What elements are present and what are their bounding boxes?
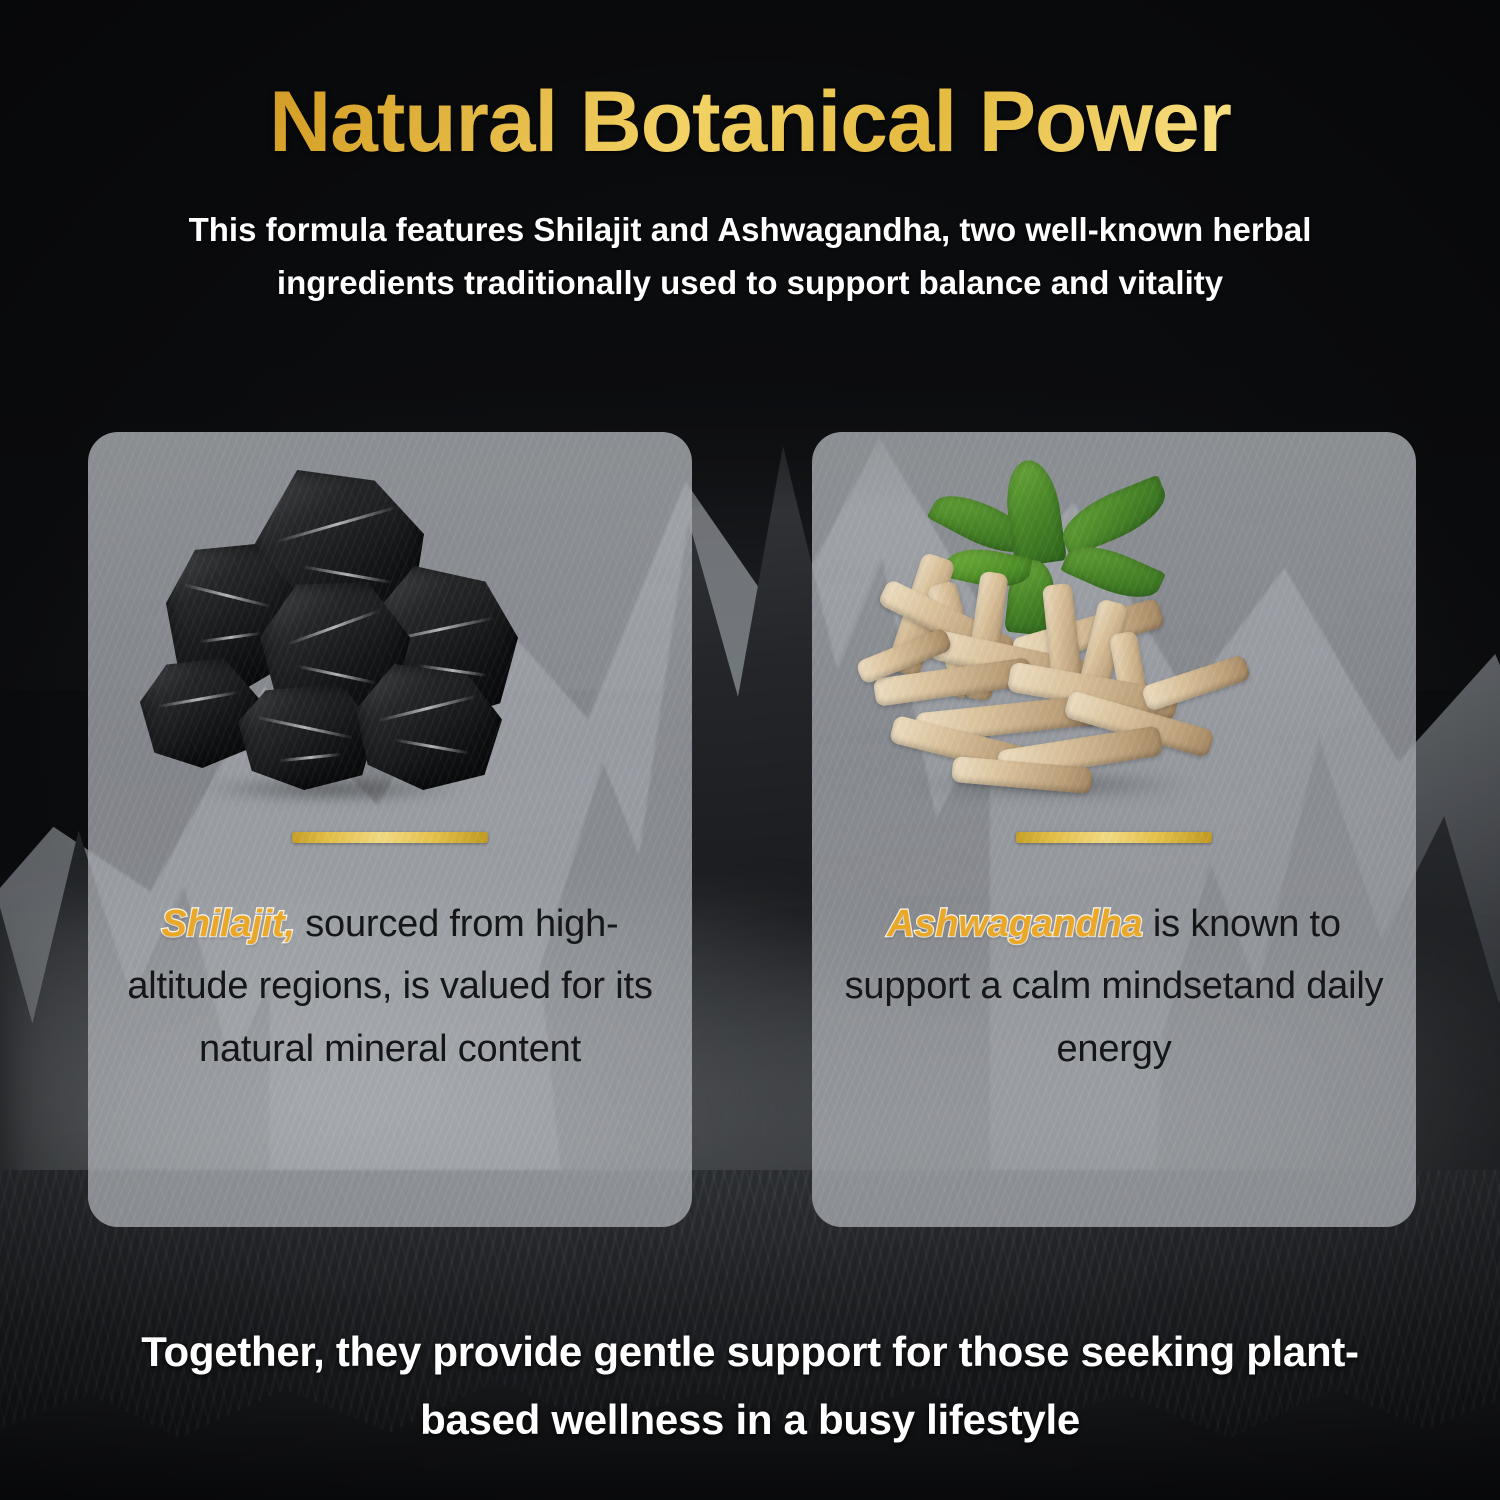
header: Natural Botanical Power This formula fea… — [0, 0, 1500, 310]
ingredient-card-ashwagandha[interactable]: Ashwagandha is known to support a calm m… — [812, 432, 1416, 1227]
shilajit-rocks-image — [88, 432, 692, 832]
page-title: Natural Botanical Power — [0, 76, 1500, 169]
infographic-poster: Natural Botanical Power This formula fea… — [0, 0, 1500, 1500]
ingredient-card-list: Shilajit, sourced from high-altitude reg… — [88, 432, 1416, 1227]
gold-divider-shilajit — [292, 832, 488, 843]
ashwagandha-description: Ashwagandha is known to support a calm m… — [812, 849, 1416, 1080]
ashwagandha-leaf-3 — [1054, 475, 1174, 558]
page-subtitle: This formula features Shilajit and Ashwa… — [155, 203, 1345, 310]
footer-tagline: Together, they provide gentle support fo… — [0, 1318, 1500, 1454]
ashwagandha-root — [1141, 654, 1252, 712]
ingredient-card-shilajit[interactable]: Shilajit, sourced from high-altitude reg… — [88, 432, 692, 1227]
ashwagandha-highlight: Ashwagandha — [887, 903, 1142, 945]
shilajit-highlight: Shilajit, — [162, 903, 295, 945]
shilajit-description: Shilajit, sourced from high-altitude reg… — [88, 849, 692, 1080]
ashwagandha-roots-image — [812, 432, 1416, 832]
gold-divider-ashwagandha — [1016, 832, 1212, 843]
